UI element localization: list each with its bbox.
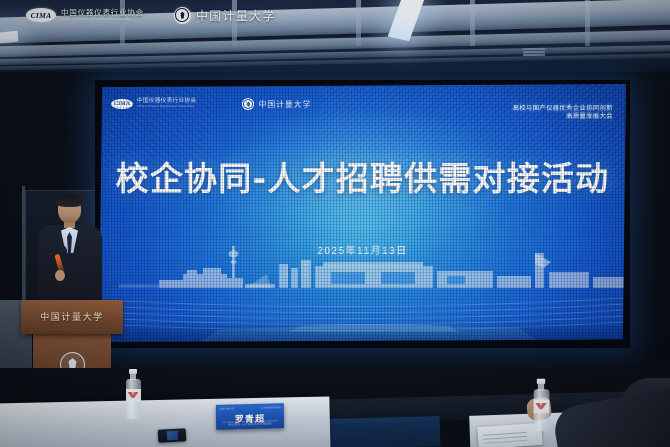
conference-photo: CIMA 中国仪器仪表行业协会 China Instrument Manufac… — [0, 0, 670, 447]
water-bottle — [125, 369, 141, 419]
screen-logo-bar: CIMA 中国仪器仪表行业协会 China Instrument Manufac… — [111, 98, 311, 110]
water-bottle — [533, 379, 550, 432]
university-emblem-icon — [242, 98, 254, 110]
screen-bottom-shade — [99, 322, 626, 342]
screen-main-title: 校企协同-人才招聘供需对接活动 — [99, 152, 626, 200]
podium-university-label: 中国计量大学 — [21, 310, 123, 323]
placard-subtitle: 校企协同-人才招聘供需对接活动 — [216, 421, 284, 427]
cima-oval-icon: CIMA — [111, 99, 133, 109]
speaker-hand — [55, 270, 65, 281]
speaker-hair — [56, 194, 83, 207]
screen-university-logo: 中国计量大学 — [242, 98, 311, 110]
placard-header-left: 中国计量大学 — [219, 406, 234, 410]
led-screen: CIMA 中国仪器仪表行业协会 China Instrument Manufac… — [99, 84, 626, 342]
placard-header-right: 人才招聘供需对接 — [261, 405, 281, 410]
bottle-label — [533, 400, 549, 414]
podium-front-panel: 中国计量大学 — [21, 300, 123, 334]
name-placard: 中国计量大学 人才招聘供需对接 罗青超 校企协同-人才招聘供需对接活动 — [216, 403, 284, 430]
ceiling-beam — [356, 0, 361, 46]
ceiling-vent — [523, 48, 545, 56]
ceiling-beam — [470, 0, 475, 46]
conference-line-2: 高质量发展大会 — [513, 113, 613, 121]
smartphone — [158, 428, 187, 442]
screen-association-name-cn: 中国仪器仪表行业协会 — [137, 99, 196, 105]
bottle-label — [126, 389, 141, 402]
screen-association-name-en: China Instrument Manufacturers Associati… — [137, 106, 196, 109]
ceiling-beam — [232, 0, 237, 46]
screen-university-name: 中国计量大学 — [258, 99, 311, 110]
screen-conference-name: 高校与国产仪器优秀企业协同创新 高质量发展大会 — [513, 105, 613, 122]
placard-header: 中国计量大学 人才招聘供需对接 — [219, 405, 281, 411]
ceiling-beam — [585, 0, 590, 46]
ceiling-beam — [120, 0, 125, 46]
screen-association-logo: CIMA 中国仪器仪表行业协会 China Instrument Manufac… — [111, 99, 196, 109]
